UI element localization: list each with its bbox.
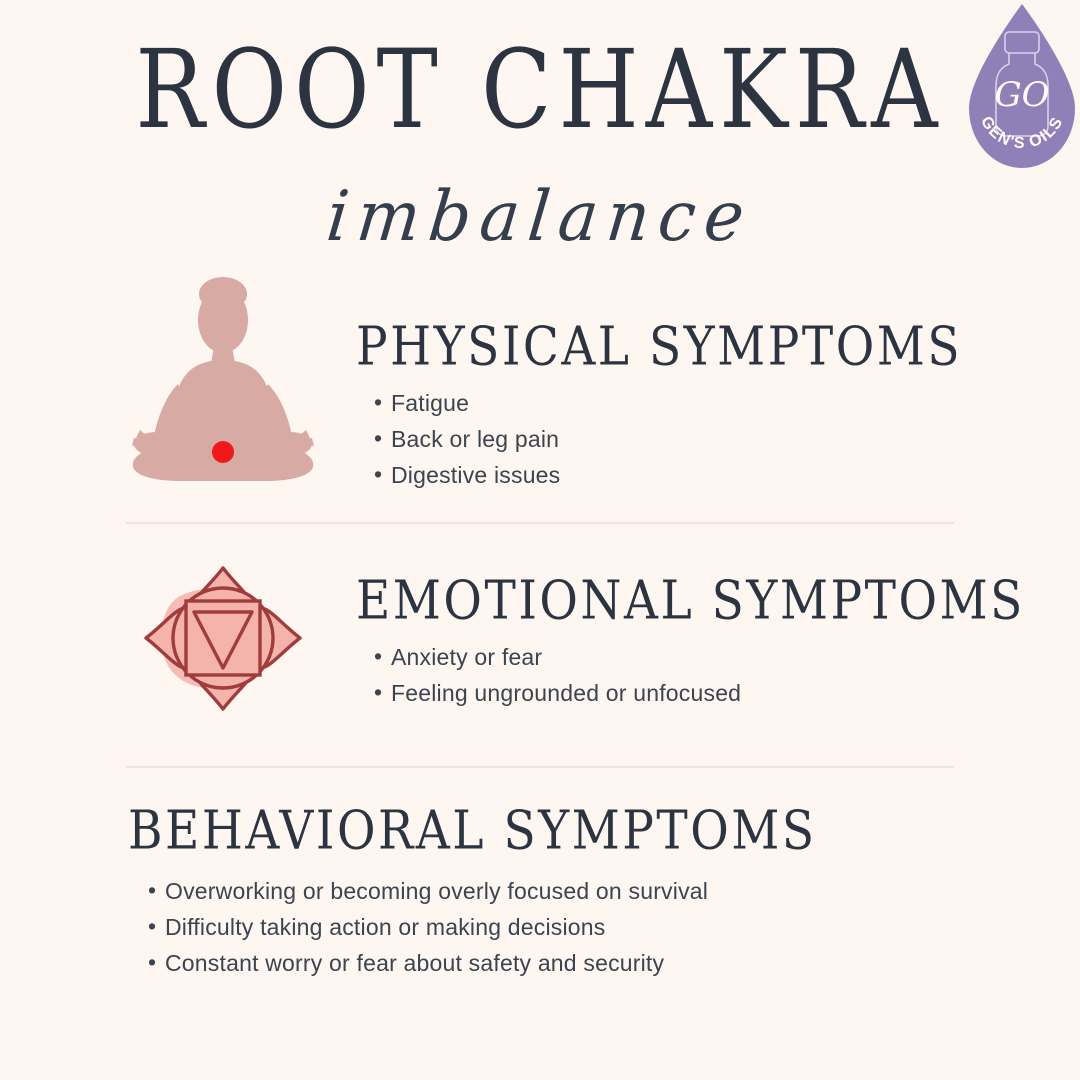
list-item: Feeling ungrounded or unfocused: [374, 680, 741, 707]
section-divider: [126, 522, 954, 524]
symptom-list: Anxiety or fear Feeling ungrounded or un…: [374, 644, 741, 716]
list-item: Digestive issues: [374, 462, 560, 489]
list-item: Back or leg pain: [374, 426, 560, 453]
list-item: Fatigue: [374, 390, 560, 417]
section-emotional-symptoms: EMOTIONAL SYMPTOMS Anxiety or fear Feeli…: [0, 552, 1080, 764]
teardrop-logo-icon: GO GEN'S OILS: [963, 2, 1080, 172]
symptom-list: Fatigue Back or leg pain Digestive issue…: [374, 390, 560, 498]
page-subtitle: imbalance: [0, 176, 1080, 257]
list-item: Overworking or becoming overly focused o…: [148, 878, 708, 905]
section-heading: PHYSICAL SYMPTOMS: [356, 316, 962, 378]
section-heading: EMOTIONAL SYMPTOMS: [356, 570, 1025, 632]
symptom-list: Overworking or becoming overly focused o…: [148, 878, 708, 986]
list-item: Constant worry or fear about safety and …: [148, 950, 708, 977]
logo-monogram: GO: [994, 75, 1049, 115]
page-title: ROOT CHAKRA: [0, 36, 1080, 145]
section-divider: [126, 766, 954, 768]
list-item: Anxiety or fear: [374, 644, 741, 671]
section-heading: BEHAVIORAL SYMPTOMS: [128, 800, 817, 862]
root-chakra-symbol-icon: [128, 556, 318, 721]
brand-logo[interactable]: GO GEN'S OILS: [963, 2, 1080, 172]
list-item: Difficulty taking action or making decis…: [148, 914, 708, 941]
header: ROOT CHAKRA imbalance: [0, 0, 1080, 270]
meditating-figure-icon: [118, 272, 328, 487]
section-physical-symptoms: PHYSICAL SYMPTOMS Fatigue Back or leg pa…: [0, 272, 1080, 504]
section-behavioral-symptoms: BEHAVIORAL SYMPTOMS Overworking or becom…: [0, 786, 1080, 986]
